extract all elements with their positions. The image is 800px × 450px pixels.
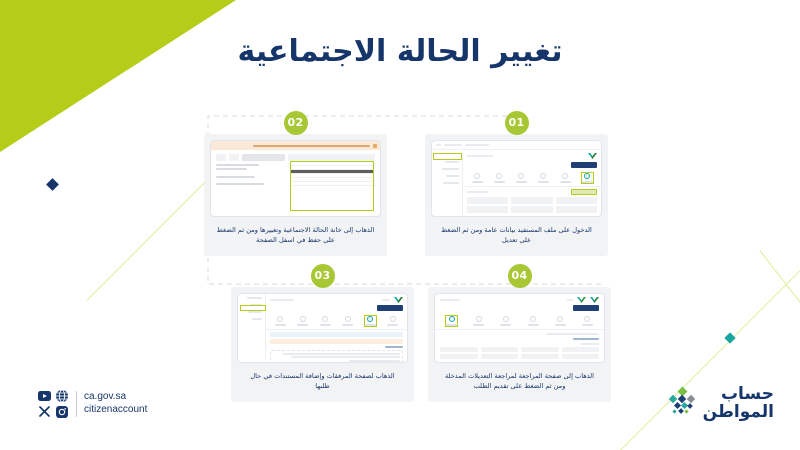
steps-container: 01 [196,112,612,412]
slide-canvas: تغيير الحالة الاجتماعية 01 [0,0,800,450]
step-badge-04: 04 [508,264,532,288]
step-caption-01: الدخول على ملف المستفيد بيانات عامة ومن … [431,222,602,251]
mini-app-logo-icon [577,297,586,303]
step-02[interactable]: 02 [204,122,387,256]
mini-step-tabs [266,313,407,330]
mini-step-tab[interactable] [320,316,331,326]
globe-icon[interactable] [55,390,68,401]
social-handles: ca.gov.sa citizenaccount [84,391,147,417]
step-card-02: الذهاب إلى خانة الحالة الاجتماعية وتغيير… [204,134,387,256]
step-card-03: الذهاب لصفحة المرفقات وإضافة المستندات ف… [231,287,414,402]
mini-step-tab[interactable] [342,316,353,326]
mini-step-tab[interactable] [582,316,593,326]
step-card-04: الذهاب إلى صفحة المراجعة لمراجعة التعديل… [428,287,611,402]
screenshot-beneficiary-profile [431,140,602,217]
step-01[interactable]: 01 [425,122,608,256]
brand-mosaic-icon [666,388,700,420]
brand-logo: حساب المواطن [666,386,774,422]
brand-logo-text: حساب المواطن [703,386,774,422]
social-divider [76,391,77,417]
mini-step-tabs [435,313,604,330]
mini-step-tab[interactable] [387,316,398,326]
step-caption-03: الذهاب لصفحة المرفقات وإضافة المستندات ف… [237,368,408,397]
mini-warning-banner [211,141,380,150]
step-badge-03: 03 [311,264,335,288]
mini-step-tab-review[interactable] [446,316,457,326]
mini-topbar [432,141,601,150]
website-url[interactable]: ca.gov.sa [84,391,147,404]
mini-primary-button[interactable] [573,305,599,311]
screenshot-attachments-page [237,293,408,363]
mini-step-tab[interactable] [494,173,505,183]
footer-social-block: ca.gov.sa citizenaccount [38,389,147,418]
page-title: تغيير الحالة الاجتماعية [0,34,800,69]
mini-step-tab[interactable] [275,316,286,326]
navy-diamond-accent [46,178,59,191]
instagram-icon[interactable] [55,406,68,417]
mini-sidebar [432,151,463,216]
mini-step-tab[interactable] [528,316,539,326]
step-badge-02: 02 [284,111,308,135]
mini-primary-button[interactable] [377,305,403,311]
mini-step-tab[interactable] [538,173,549,183]
brand-line-2: المواطن [703,404,774,422]
mini-app-logo-icon [394,297,403,303]
step-caption-04: الذهاب إلى صفحة المراجعة لمراجعة التعديل… [434,368,605,397]
mini-step-tab[interactable] [500,316,511,326]
dropdown-option[interactable] [291,182,373,186]
x-twitter-icon[interactable] [38,406,51,417]
mini-step-tab-active[interactable] [582,173,593,183]
mini-step-tab[interactable] [555,316,566,326]
step-caption-02: الذهاب إلى خانة الحالة الاجتماعية وتغيير… [210,222,381,251]
mini-step-tab[interactable] [297,316,308,326]
mini-step-tab[interactable] [473,316,484,326]
mini-step-tab[interactable] [516,173,527,183]
step-badge-01: 01 [505,111,529,135]
social-handle[interactable]: citizenaccount [84,404,147,417]
mini-app-logo-icon [588,153,597,159]
mini-highlight-box [433,153,462,160]
screenshot-review-submit-page [434,293,605,363]
social-icons-group [38,389,69,418]
step-03[interactable]: 03 [231,275,414,402]
mini-edit-button[interactable] [571,189,597,195]
mini-step-tabs [463,170,601,187]
mini-primary-button[interactable] [571,162,597,168]
diagonal-line-bottom-right-b [759,250,800,392]
mini-warning-icon [373,144,377,148]
marital-status-dropdown[interactable] [290,161,374,211]
teal-diamond-accent [724,332,735,343]
youtube-icon[interactable] [38,390,51,401]
step-card-01: الدخول على ملف المستفيد بيانات عامة ومن … [425,134,608,256]
mini-step-tab[interactable] [560,173,571,183]
mini-app-logo-icon [590,297,599,303]
mini-highlight-box [240,305,266,311]
screenshot-marital-status-form [210,140,381,217]
mini-step-tab[interactable] [472,173,483,183]
step-04[interactable]: 04 [428,275,611,402]
mini-step-tab-attachments[interactable] [365,316,376,326]
